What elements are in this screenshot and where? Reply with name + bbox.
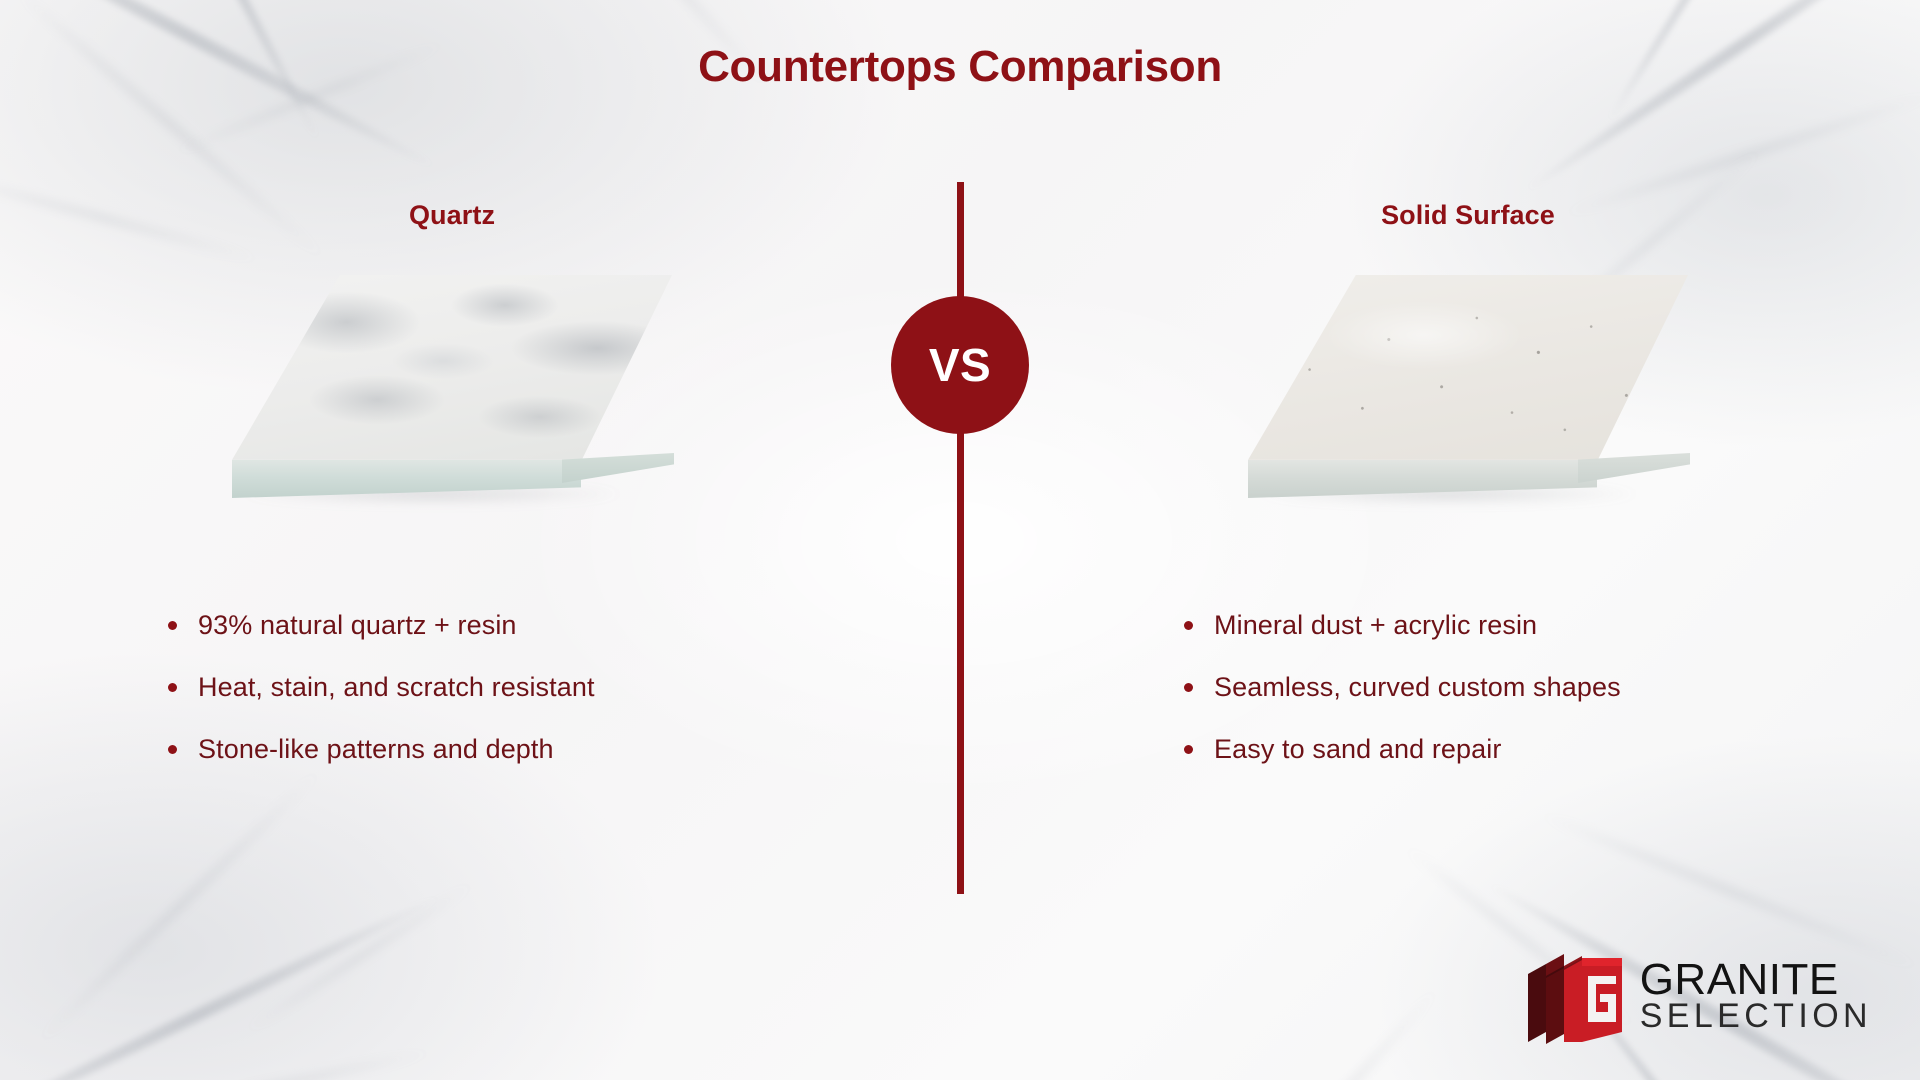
slab-illustration-quartz	[72, 260, 832, 560]
list-item: Stone-like patterns and depth	[168, 718, 802, 780]
column-heading-quartz: Quartz	[72, 200, 832, 240]
comparison-column-quartz: Quartz 93% natural quartz + resin Heat, …	[72, 200, 832, 780]
bullet-dot-icon	[168, 683, 177, 692]
list-item-label: Mineral dust + acrylic resin	[1214, 610, 1537, 640]
list-item: Mineral dust + acrylic resin	[1184, 594, 1818, 656]
list-item-label: Heat, stain, and scratch resistant	[198, 672, 595, 702]
page-title: Countertops Comparison	[0, 42, 1920, 92]
bullet-dot-icon	[1184, 621, 1193, 630]
brand-logo: GRANITE SELECTION	[1526, 946, 1872, 1046]
bullet-dot-icon	[168, 745, 177, 754]
feature-list-solid-surface: Mineral dust + acrylic resin Seamless, c…	[1088, 594, 1848, 780]
list-item: Heat, stain, and scratch resistant	[168, 656, 802, 718]
logo-text-line-1: GRANITE	[1640, 960, 1872, 1001]
slab-illustration-solid-surface	[1088, 260, 1848, 560]
list-item: 93% natural quartz + resin	[168, 594, 802, 656]
comparison-column-solid-surface: Solid Surface Mineral dust + acrylic res…	[1088, 200, 1848, 780]
logo-text-line-2: SELECTION	[1640, 1001, 1872, 1033]
granite-selection-g-mark-icon	[1526, 946, 1624, 1046]
list-item-label: Stone-like patterns and depth	[198, 734, 554, 764]
list-item-label: Seamless, curved custom shapes	[1214, 672, 1621, 702]
list-item-label: Easy to sand and repair	[1214, 734, 1501, 764]
bullet-dot-icon	[1184, 745, 1193, 754]
list-item: Seamless, curved custom shapes	[1184, 656, 1818, 718]
list-item: Easy to sand and repair	[1184, 718, 1818, 780]
bullet-dot-icon	[168, 621, 177, 630]
list-item-label: 93% natural quartz + resin	[198, 610, 517, 640]
vs-badge: VS	[891, 296, 1029, 434]
feature-list-quartz: 93% natural quartz + resin Heat, stain, …	[72, 594, 832, 780]
infographic-canvas: Countertops Comparison Quartz 93% natura…	[0, 0, 1920, 1080]
bullet-dot-icon	[1184, 683, 1193, 692]
vertical-divider	[957, 182, 964, 894]
column-heading-solid-surface: Solid Surface	[1088, 200, 1848, 240]
